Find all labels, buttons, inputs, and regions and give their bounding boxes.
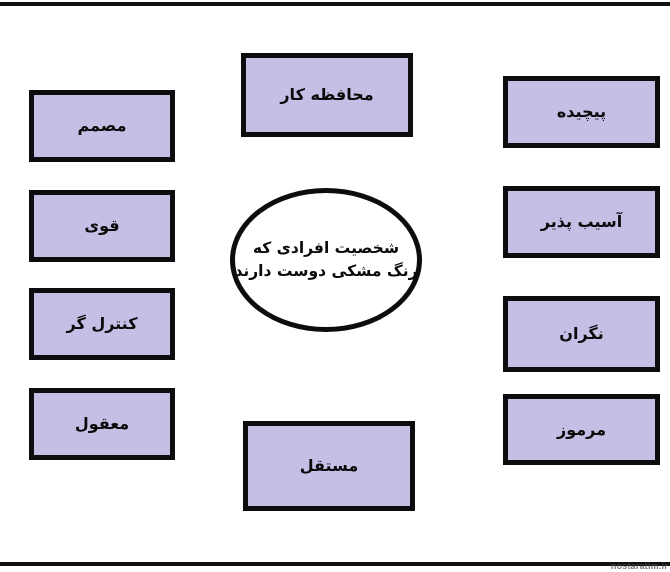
center-ellipse[interactable]: شخصیت افرادی که رنگ مشکی دوست دارند [230,188,422,332]
node-marmooz[interactable]: مرموز [503,394,660,465]
node-label: مصمم [72,116,133,136]
node-asibpazir[interactable]: آسیب پذیر [503,186,660,258]
node-label: محافظه کار [274,85,379,105]
diagram-canvas: مصمم قوی کنترل گر معقول محافظه کار مستقل… [0,0,670,572]
node-label: مستقل [294,456,365,476]
node-label: آسیب پذیر [535,212,628,232]
center-ellipse-text: شخصیت افرادی که رنگ مشکی دوست دارند [220,237,431,284]
node-maghool[interactable]: معقول [29,388,175,460]
frame-rule-bottom [0,562,670,566]
node-negaran[interactable]: نگران [503,296,660,372]
node-ghavi[interactable]: قوی [29,190,175,262]
node-label: مرموز [551,420,612,440]
node-mosammam[interactable]: مصمم [29,90,175,162]
node-mohafezekar[interactable]: محافظه کار [241,53,413,137]
node-label: کنترل گر [60,314,143,334]
center-line-1: شخصیت افرادی که [234,237,417,260]
center-line-2: رنگ مشکی دوست دارند [234,260,417,283]
node-pichide[interactable]: پیچیده [503,76,660,148]
frame-rule-top [0,2,670,6]
node-label: معقول [69,414,135,434]
node-label: قوی [78,216,125,236]
node-kontrolgar[interactable]: کنترل گر [29,288,175,360]
watermark: nostaratim.ir [611,561,668,572]
node-label: پیچیده [551,102,612,122]
node-mostaghel[interactable]: مستقل [243,421,415,511]
node-label: نگران [553,324,609,344]
